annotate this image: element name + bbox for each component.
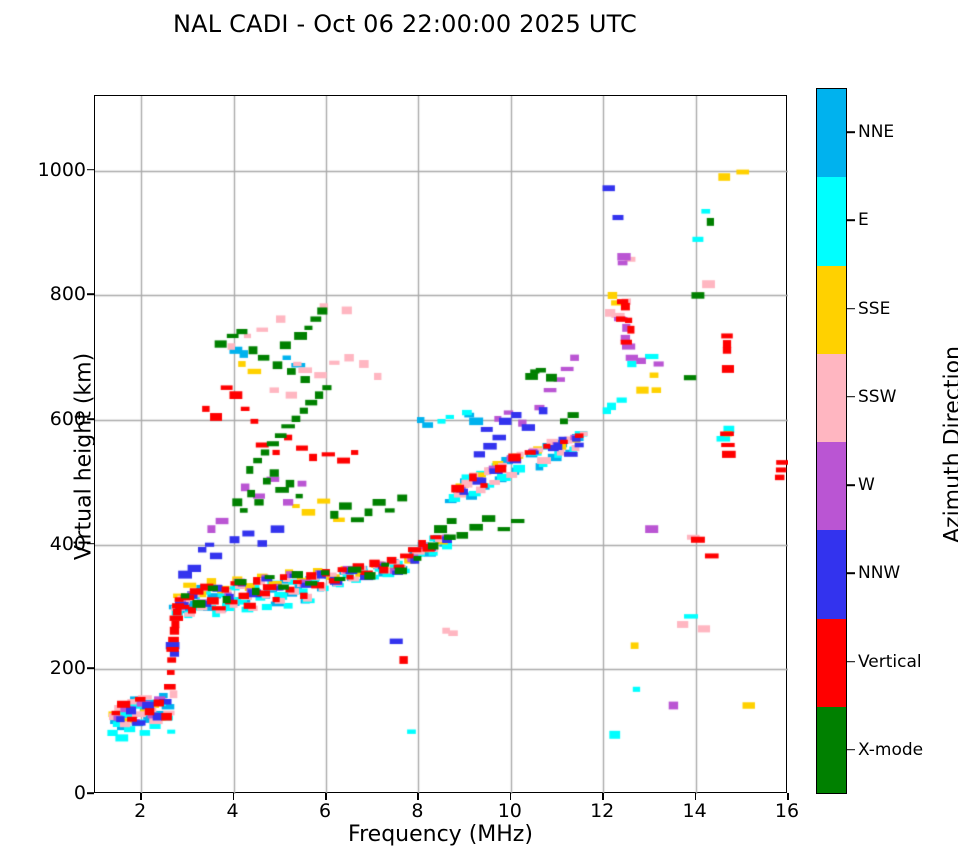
colorbar-tick-mark: [847, 749, 855, 751]
y-tick-label: 1000: [16, 159, 86, 181]
x-tick-mark: [140, 793, 142, 800]
colorbar-tick-mark: [847, 220, 855, 222]
y-tick-mark: [87, 792, 94, 794]
x-tick-mark: [325, 793, 327, 800]
colorbar-segment-x-mode: [817, 707, 846, 794]
colorbar-segment-e: [817, 177, 846, 265]
colorbar-segment-nnw: [817, 530, 846, 618]
colorbar-tick-mark: [847, 308, 855, 310]
x-tick-label: 14: [665, 800, 725, 822]
colorbar-labels: NNEESSESSWWNNWVerticalX-mode: [858, 88, 953, 794]
x-axis-label: Frequency (MHz): [94, 822, 787, 847]
x-tick-label: 6: [295, 800, 355, 822]
x-tick-mark: [602, 793, 604, 800]
x-axis-tickmarks: [94, 793, 787, 800]
x-tick-label: 8: [387, 800, 447, 822]
colorbar-segment-sse: [817, 266, 846, 354]
colorbar-label-ssw: SSW: [858, 387, 896, 407]
x-tick-mark: [695, 793, 697, 800]
colorbar-segment-nne: [817, 89, 846, 177]
chart-title: NAL CADI - Oct 06 22:00:00 2025 UTC: [0, 10, 810, 38]
x-tick-mark: [233, 793, 235, 800]
y-tick-mark: [87, 169, 94, 171]
y-tick-mark: [87, 668, 94, 670]
colorbar-tickmarks: [847, 88, 857, 794]
colorbar-tick-mark: [847, 396, 855, 398]
colorbar-segment-ssw: [817, 354, 846, 442]
scatter-data-layer: [95, 96, 788, 794]
x-tick-mark: [787, 793, 789, 800]
plot-area: [94, 95, 787, 793]
y-tick-label: 0: [16, 782, 86, 804]
ionogram-figure: NAL CADI - Oct 06 22:00:00 2025 UTC 0200…: [0, 0, 958, 857]
colorbar: [816, 88, 847, 794]
x-tick-mark: [417, 793, 419, 800]
x-tick-label: 10: [480, 800, 540, 822]
colorbar-label-nnw: NNW: [858, 563, 900, 583]
colorbar-label-e: E: [858, 210, 869, 230]
colorbar-label-x-mode: X-mode: [858, 740, 923, 760]
colorbar-label-sse: SSE: [858, 299, 890, 319]
colorbar-label-vertical: Vertical: [858, 652, 922, 672]
colorbar-tick-mark: [847, 131, 855, 133]
colorbar-tick-mark: [847, 573, 855, 575]
x-tick-label: 2: [110, 800, 170, 822]
x-tick-label: 4: [203, 800, 263, 822]
colorbar-segment-w: [817, 442, 846, 530]
x-tick-label: 12: [572, 800, 632, 822]
colorbar-segment-vertical: [817, 619, 846, 707]
x-tick-label: 16: [757, 800, 817, 822]
colorbar-label-w: W: [858, 475, 875, 495]
colorbar-tick-mark: [847, 661, 855, 663]
colorbar-label-nne: NNE: [858, 122, 894, 142]
colorbar-title: Azimuth Direction: [941, 275, 958, 615]
y-tick-label: 200: [16, 657, 86, 679]
y-axis-label: Virtual height (km): [72, 257, 97, 657]
x-tick-mark: [510, 793, 512, 800]
colorbar-tick-mark: [847, 484, 855, 486]
